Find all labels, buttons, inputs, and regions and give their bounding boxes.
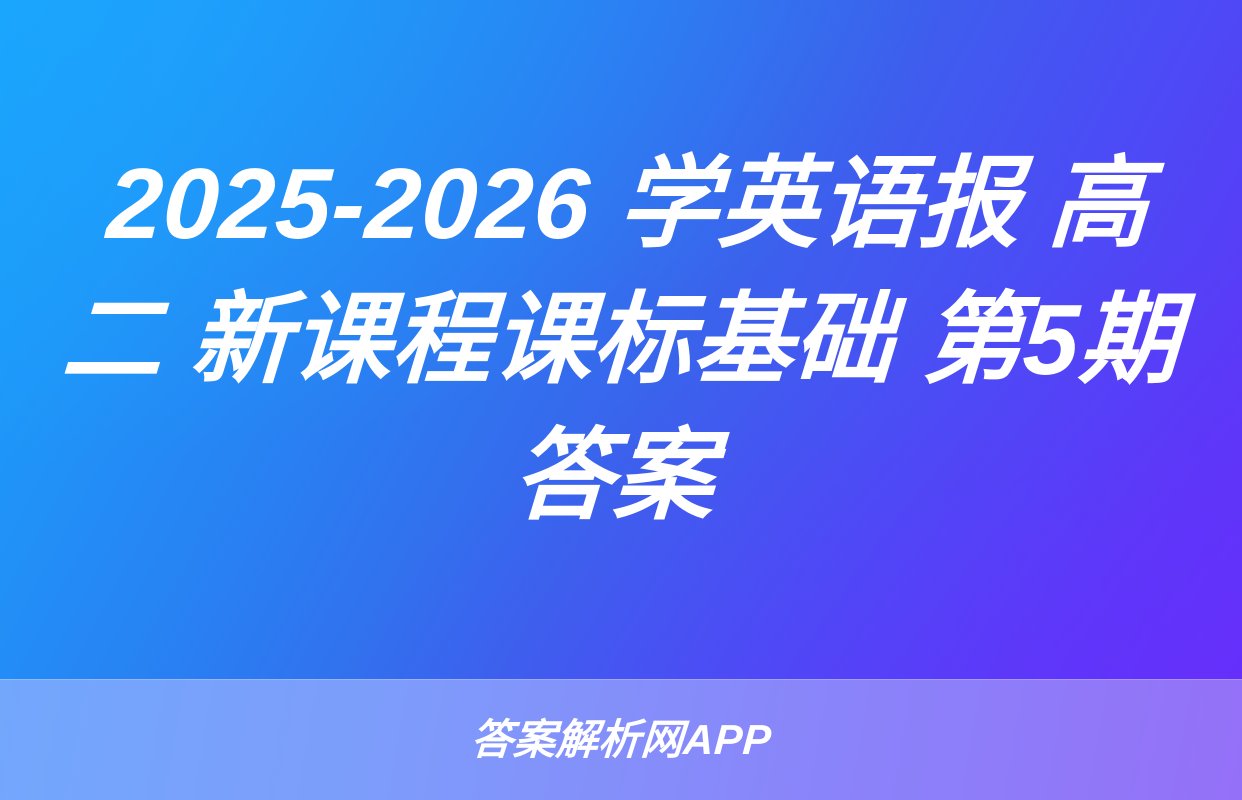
app-brand-bar[interactable]: 答案解析网APP <box>0 679 1242 800</box>
poster-title-area: 2025-2026 学英语报 高二 新课程课标基础 第5期答案 <box>0 0 1242 679</box>
poster-canvas: 2025-2026 学英语报 高二 新课程课标基础 第5期答案 答案解析网APP <box>0 0 1242 800</box>
app-brand-label: 答案解析网APP <box>469 719 772 761</box>
page-title: 2025-2026 学英语报 高二 新课程课标基础 第5期答案 <box>51 136 1190 544</box>
